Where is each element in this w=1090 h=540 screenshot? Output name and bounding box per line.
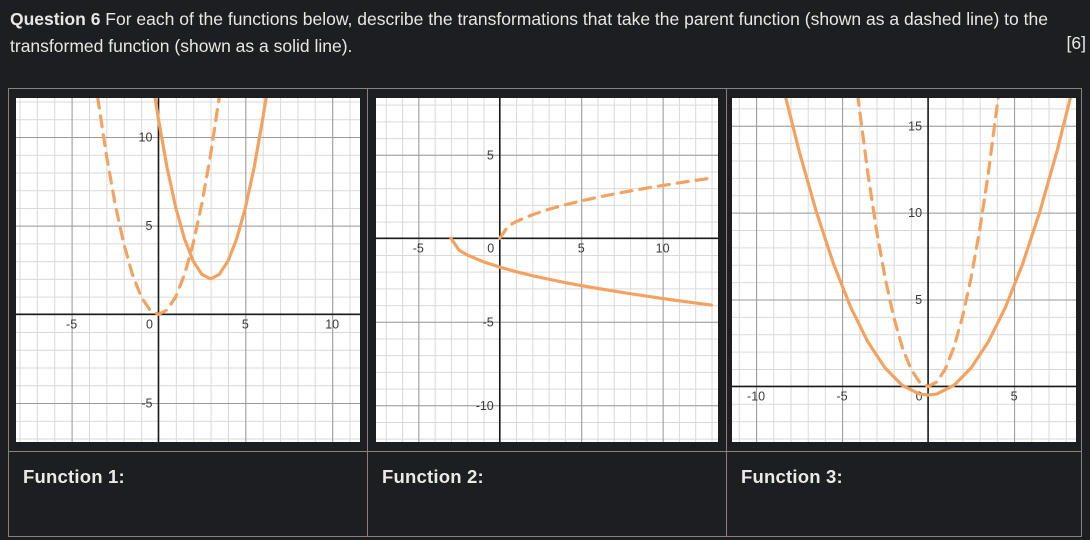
svg-text:5: 5 xyxy=(146,219,153,233)
svg-text:10: 10 xyxy=(139,131,153,145)
answer-cell-1[interactable]: Function 1: xyxy=(9,452,368,537)
svg-text:5: 5 xyxy=(487,148,494,162)
svg-text:10: 10 xyxy=(656,241,670,255)
graph-cell-2: -50510-10-55 xyxy=(368,89,727,452)
svg-text:0: 0 xyxy=(146,317,153,331)
graph-1: -50510-5510 xyxy=(16,98,360,442)
graph-2-wrapper: -50510-10-55 xyxy=(368,89,726,451)
svg-text:5: 5 xyxy=(915,293,922,307)
graphs-row: -50510-5510 -50510-10-55 -10-50551015 xyxy=(9,89,1082,452)
question-number: Question 6 xyxy=(10,9,100,29)
svg-text:0: 0 xyxy=(487,241,494,255)
worksheet-page: Question 6 For each of the functions bel… xyxy=(0,0,1090,540)
svg-text:5: 5 xyxy=(1011,389,1018,403)
graph-cell-1: -50510-5510 xyxy=(9,89,368,452)
svg-text:-10: -10 xyxy=(747,389,765,403)
function-1-label: Function 1: xyxy=(9,452,367,488)
svg-text:10: 10 xyxy=(325,317,339,331)
answer-cell-2[interactable]: Function 2: xyxy=(368,452,727,537)
graph-1-wrapper: -50510-5510 xyxy=(9,89,367,451)
svg-text:10: 10 xyxy=(908,206,922,220)
function-3-label: Function 3: xyxy=(727,452,1081,488)
svg-text:15: 15 xyxy=(908,119,922,133)
svg-text:-5: -5 xyxy=(413,241,424,255)
functions-table: -50510-5510 -50510-10-55 -10-50551015 Fu… xyxy=(8,88,1082,537)
graph-2: -50510-10-55 xyxy=(376,98,718,442)
svg-text:-5: -5 xyxy=(483,315,494,329)
question-text: For each of the functions below, describ… xyxy=(10,9,1048,56)
svg-text:5: 5 xyxy=(242,317,249,331)
function-2-label: Function 2: xyxy=(368,452,726,488)
svg-text:5: 5 xyxy=(578,241,585,255)
graph-cell-3: -10-50551015 xyxy=(727,89,1082,452)
answers-row: Function 1: Function 2: Function 3: xyxy=(9,452,1082,537)
graph-3-wrapper: -10-50551015 xyxy=(727,89,1081,451)
svg-text:-5: -5 xyxy=(66,317,77,331)
answer-cell-3[interactable]: Function 3: xyxy=(727,452,1082,537)
question-marks: [6] xyxy=(1067,33,1086,54)
question-header: Question 6 For each of the functions bel… xyxy=(10,6,1080,60)
svg-text:-5: -5 xyxy=(837,389,848,403)
graph-3: -10-50551015 xyxy=(732,98,1076,442)
svg-text:-5: -5 xyxy=(141,396,152,410)
svg-text:-10: -10 xyxy=(476,399,494,413)
